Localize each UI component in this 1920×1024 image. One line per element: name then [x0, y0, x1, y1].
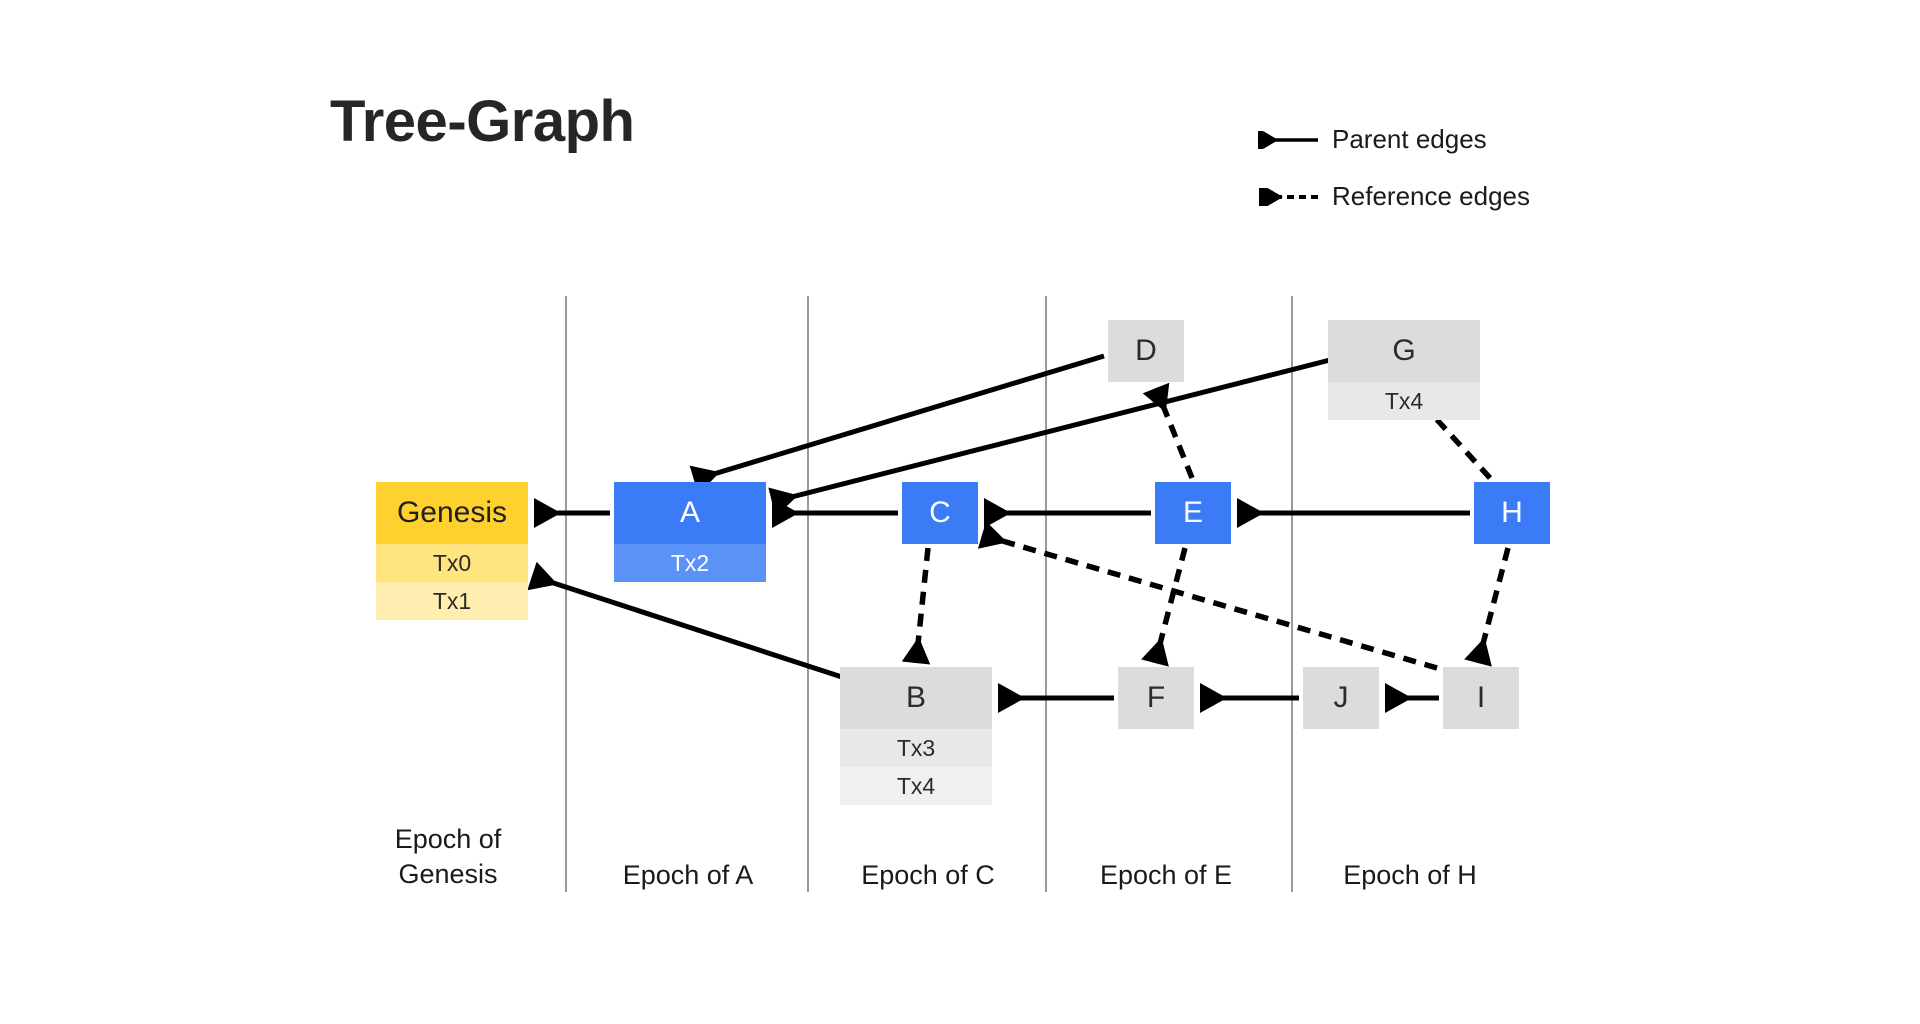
epoch-label-h: Epoch of H: [1270, 858, 1550, 893]
node-h-label: H: [1474, 482, 1550, 544]
node-genesis-label: Genesis: [376, 482, 528, 544]
node-e[interactable]: E: [1155, 482, 1231, 544]
arrow-left-dashed-icon: [1248, 188, 1318, 206]
epoch-label-a: Epoch of A: [548, 858, 828, 893]
edge-reference-e-to-f: [1155, 548, 1185, 663]
node-genesis[interactable]: GenesisTx0Tx1: [376, 482, 528, 620]
node-i[interactable]: I: [1443, 667, 1519, 729]
node-e-label: E: [1155, 482, 1231, 544]
node-b-tx-1: Tx4: [840, 767, 992, 805]
node-i-label: I: [1443, 667, 1519, 729]
node-a-label: A: [614, 482, 766, 544]
node-g[interactable]: GTx4: [1328, 320, 1480, 420]
node-genesis-tx-0: Tx0: [376, 544, 528, 582]
legend-item-reference-edges: Reference edges: [1248, 181, 1530, 212]
node-a[interactable]: ATx2: [614, 482, 766, 582]
edge-parent-b-to-genesis: [532, 576, 845, 678]
node-g-tx-0: Tx4: [1328, 382, 1480, 420]
edge-reference-i-to-c: [982, 535, 1437, 668]
tree-graph-diagram: Tree-Graph Parent edges Reference edges: [0, 0, 1920, 1024]
legend-label-parent-edges: Parent edges: [1332, 124, 1487, 155]
node-c-label: C: [902, 482, 978, 544]
node-c[interactable]: C: [902, 482, 978, 544]
arrow-left-solid-icon: [1248, 131, 1318, 149]
node-j[interactable]: J: [1303, 667, 1379, 729]
node-f-label: F: [1118, 667, 1194, 729]
node-b[interactable]: BTx3Tx4: [840, 667, 992, 805]
node-h[interactable]: H: [1474, 482, 1550, 544]
node-d-label: D: [1108, 320, 1184, 382]
epoch-label-e: Epoch of E: [1026, 858, 1306, 893]
node-b-label: B: [840, 667, 992, 729]
node-a-tx-0: Tx2: [614, 544, 766, 582]
node-d[interactable]: D: [1108, 320, 1184, 382]
edge-reference-h-to-i: [1478, 548, 1508, 663]
legend-item-parent-edges: Parent edges: [1248, 124, 1487, 155]
edge-parent-g-to-a: [772, 360, 1330, 502]
edge-parent-d-to-a: [694, 356, 1104, 480]
legend-label-reference-edges: Reference edges: [1332, 181, 1530, 212]
node-b-tx-0: Tx3: [840, 729, 992, 767]
node-genesis-tx-1: Tx1: [376, 582, 528, 620]
node-j-label: J: [1303, 667, 1379, 729]
page-title: Tree-Graph: [330, 88, 634, 155]
edge-reference-e-to-d: [1156, 388, 1192, 478]
edge-reference-c-to-b: [916, 548, 928, 663]
node-g-label: G: [1328, 320, 1480, 382]
node-f[interactable]: F: [1118, 667, 1194, 729]
epoch-label-genesis: Epoch of Genesis: [308, 822, 588, 891]
